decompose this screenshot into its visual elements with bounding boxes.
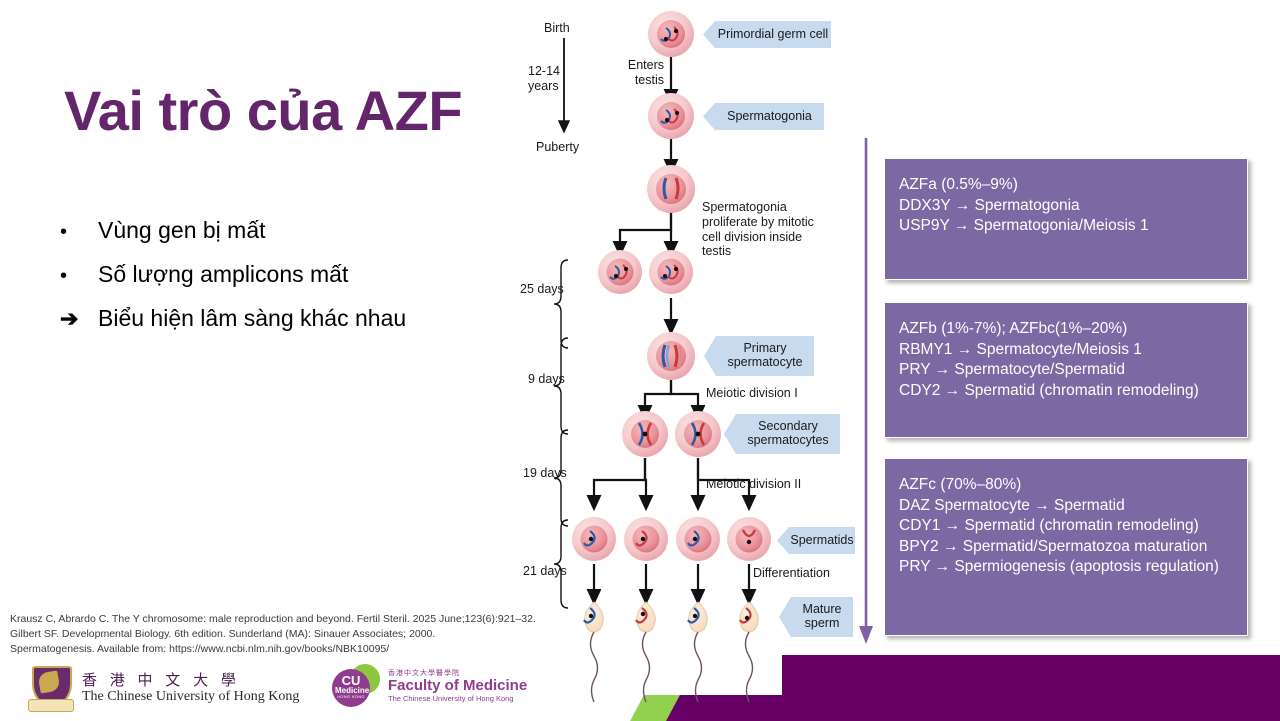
infobox-azfa: AZFa (0.5%–9%) DDX3Y → Spermatogonia USP… [884, 158, 1248, 280]
cuhk-logo-english: The Chinese University of Hong Kong [82, 689, 299, 706]
duration-label-1: 25 days [520, 282, 564, 297]
citation-line-2: Gilbert SF. Developmental Biology. 6th e… [10, 627, 570, 642]
infobox-azfa-line-1: AZFa (0.5%–9%) [899, 175, 1233, 196]
cuhk-crest-icon [28, 664, 72, 712]
infobox-azfc-line-5: PRY → Spermiogenesis (apoptosis regulati… [899, 557, 1233, 578]
bullet-list: • Vùng gen bị mất • Số lượng amplicons m… [60, 216, 490, 348]
infobox-azfc-line-4: BPY2 → Spermatid/Spermatozoa maturation [899, 537, 1233, 558]
infobox-azfa-line-3: USP9Y → Spermatogonia/Meiosis 1 [899, 216, 1233, 237]
cu-medicine-chinese: 香港中文大學醫學院 [388, 669, 527, 677]
citation-line-1: Krausz C, Abrardo C. The Y chromosome: m… [10, 612, 570, 627]
process-label-enters-testis: Enters testis [620, 58, 664, 88]
cuhk-logo: 香 港 中 文 大 學 The Chinese University of Ho… [28, 664, 299, 712]
infobox-azfb-line-4: CDY2 → Spermatid (chromatin remodeling) [899, 381, 1233, 402]
timeline-label-birth: Birth [544, 21, 570, 36]
callout-secondary-spermatocytes: Secondary spermatocytes [724, 414, 840, 454]
process-label-differentiation: Differentiation [753, 566, 830, 581]
infobox-azfb-line-3: PRY → Spermatocyte/Spermatid [899, 360, 1233, 381]
cu-medicine-badge-icon: CU Medicine HONG KONG [332, 664, 380, 708]
cu-medicine-subtitle: The Chinese University of Hong Kong [388, 694, 527, 703]
callout-mature-sperm: Mature sperm [779, 597, 853, 637]
duration-label-4: 21 days [523, 564, 567, 579]
cu-medicine-title: Faculty of Medicine [388, 677, 527, 694]
callout-primary-spermatocyte: Primary spermatocyte [704, 336, 814, 376]
cuhk-logo-chinese: 香 港 中 文 大 學 [82, 671, 299, 689]
cu-medicine-logo: CU Medicine HONG KONG 香港中文大學醫學院 Faculty … [332, 664, 527, 708]
timeline-label-years: 12-14 years [528, 64, 560, 94]
process-label-meiotic-division-ii: Meiotic division II [706, 477, 801, 492]
bullet-arrow-icon: ➔ [60, 305, 98, 334]
callout-primordial-germ-cell: Primordial germ cell [703, 21, 831, 48]
bullet-dot-icon: • [60, 219, 98, 245]
page-title: Vai trò của AZF [64, 78, 462, 143]
infobox-azfb: AZFb (1%-7%); AZFbc(1%–20%) RBMY1 → Sper… [884, 302, 1248, 438]
spermatogenesis-diagram: Birth 12-14 years Puberty 25 days 9 days… [520, 8, 865, 708]
callout-spermatids: Spermatids [777, 527, 855, 554]
callout-spermatogonia: Spermatogonia [703, 103, 824, 130]
list-item: • Số lượng amplicons mất [60, 260, 490, 290]
infobox-azfb-line-1: AZFb (1%-7%); AZFbc(1%–20%) [899, 319, 1233, 340]
infobox-azfc-line-3: CDY1 → Spermatid (chromatin remodeling) [899, 516, 1233, 537]
timeline-label-puberty: Puberty [536, 140, 579, 155]
infobox-azfc: AZFc (70%–80%) DAZ Spermatocyte → Sperma… [884, 458, 1248, 636]
cu-badge-line-3: HONG KONG [335, 695, 367, 699]
list-item: ➔ Biểu hiện lâm sàng khác nhau [60, 304, 490, 334]
slide-canvas: Vai trò của AZF • Vùng gen bị mất • Số l… [0, 0, 1280, 720]
infobox-azfb-line-2: RBMY1 → Spermatocyte/Meiosis 1 [899, 340, 1233, 361]
bullet-dot-icon: • [60, 263, 98, 289]
process-label-meiotic-division-i: Meiotic division I [706, 386, 798, 401]
citation-block: Krausz C, Abrardo C. The Y chromosome: m… [10, 612, 570, 657]
infobox-azfc-line-1: AZFc (70%–80%) [899, 475, 1233, 496]
list-item-label: Biểu hiện lâm sàng khác nhau [98, 304, 490, 334]
infobox-azfc-line-2: DAZ Spermatocyte → Spermatid [899, 496, 1233, 517]
infobox-azfa-line-2: DDX3Y → Spermatogonia [899, 196, 1233, 217]
list-item-label: Vùng gen bị mất [98, 216, 490, 246]
process-label-mitotic-proliferation: Spermatogonia proliferate by mitotic cel… [702, 200, 814, 259]
duration-label-3: 19 days [523, 466, 567, 481]
list-item-label: Số lượng amplicons mất [98, 260, 490, 290]
list-item: • Vùng gen bị mất [60, 216, 490, 246]
citation-line-3: Spermatogenesis. Available from: https:/… [10, 642, 570, 657]
duration-label-2: 9 days [528, 372, 565, 387]
